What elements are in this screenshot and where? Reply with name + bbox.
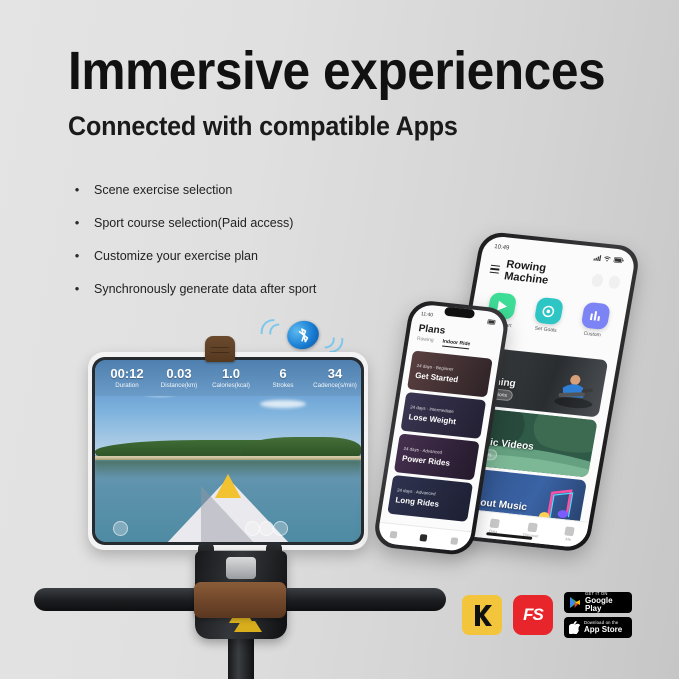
status-time: 11:40 (420, 311, 433, 318)
search-icon[interactable] (591, 273, 604, 287)
hamburger-menu-icon[interactable] (490, 265, 500, 274)
list-item[interactable]: 24 days · Intermediate Lose Weight (400, 392, 486, 439)
tab-home-icon[interactable] (389, 530, 397, 538)
metric-value: 00:12 (101, 367, 153, 381)
metric-strokes: 6 Strokes (257, 367, 309, 390)
app-store-badge[interactable]: Download on the App Store (564, 617, 632, 638)
sliders-icon (580, 302, 610, 330)
control-button-view[interactable] (245, 521, 260, 536)
tablet-control-bar (95, 520, 361, 542)
handlebar-grip (194, 582, 286, 618)
promo-stage: Immersive experiences Connected with com… (0, 0, 679, 679)
feature-list: • Scene exercise selection • Sport cours… (72, 182, 402, 314)
list-item: • Customize your exercise plan (72, 248, 402, 264)
discover-icon (527, 522, 538, 532)
metric-value: 0.03 (153, 367, 205, 381)
battery-icon (613, 257, 624, 264)
page-title: Immersive experiences (68, 44, 605, 98)
tab-plans-icon[interactable] (420, 534, 428, 542)
list-item-label: Sport course selection(Paid access) (94, 215, 293, 231)
tab-indoor-ride[interactable]: Indoor Ride (442, 339, 471, 350)
handlebar-left (34, 588, 214, 611)
google-play-icon (569, 596, 581, 609)
list-item[interactable]: 24 days · Beginner Get Started (407, 350, 493, 397)
metric-cadence: 34 Cadence(s/min) (309, 367, 361, 390)
target-icon (534, 297, 564, 325)
console-slot (226, 557, 256, 579)
wifi-icon (603, 256, 611, 263)
profile-icon (565, 526, 576, 536)
list-item: • Scene exercise selection (72, 182, 402, 198)
tablet-mount-clamp (205, 336, 235, 362)
metric-value: 34 (309, 367, 361, 381)
action-label: Set Goals (523, 324, 568, 335)
tab-me[interactable]: Me (563, 526, 575, 542)
handlebar-right (268, 588, 446, 611)
data-icon (489, 518, 500, 528)
tab-rowing[interactable]: Rowing (416, 336, 434, 346)
metric-label: Calories(kcal) (205, 381, 257, 390)
action-set-goals[interactable]: Set Goals (523, 296, 573, 335)
page-subtitle: Connected with compatible Apps (68, 111, 458, 141)
battery-icon (487, 319, 497, 325)
tab-label: Me (563, 536, 573, 542)
bullet-icon: • (72, 182, 82, 198)
store-badge-title: App Store (584, 626, 622, 634)
list-item-label: Synchronously generate data after sport (94, 281, 316, 297)
list-item-label: Customize your exercise plan (94, 248, 258, 264)
plan-title: Get Started (415, 371, 459, 384)
metric-label: Distance(km) (153, 381, 205, 390)
plan-meta: 24 days · Beginner (416, 363, 453, 372)
google-play-badge[interactable]: GET IT ON Google Play (564, 592, 632, 613)
status-time: 10:49 (494, 244, 510, 251)
tablet-bezel: 00:12 Duration 0.03 Distance(km) 1.0 Cal… (92, 357, 364, 545)
list-item: • Sport course selection(Paid access) (72, 215, 402, 231)
metric-label: Cadence(s/min) (309, 381, 361, 390)
treeline-right (241, 437, 361, 455)
list-item-label: Scene exercise selection (94, 182, 232, 198)
tab-data[interactable]: Data (488, 518, 500, 534)
fs-logo[interactable]: FS (513, 595, 553, 635)
action-label: Custom (570, 329, 615, 340)
list-item: • Synchronously generate data after spor… (72, 281, 402, 297)
bullet-icon: • (72, 248, 82, 264)
store-badges: GET IT ON Google Play Download on the Ap… (564, 592, 632, 638)
list-item[interactable]: 24 days · Advanced Power Rides (394, 433, 480, 480)
signal-icon (593, 255, 601, 262)
control-button-map[interactable] (259, 521, 274, 536)
bullet-icon: • (72, 215, 82, 231)
apple-icon (569, 621, 580, 634)
metric-calories: 1.0 Calories(kcal) (205, 367, 257, 390)
metric-value: 1.0 (205, 367, 257, 381)
metrics-bar: 00:12 Duration 0.03 Distance(km) 1.0 Cal… (95, 360, 361, 396)
metric-duration: 00:12 Duration (101, 367, 153, 390)
metric-label: Duration (101, 381, 153, 390)
plan-title: Lose Weight (408, 412, 457, 426)
tablet-device: 00:12 Duration 0.03 Distance(km) 1.0 Cal… (88, 352, 368, 550)
plan-title: Long Rides (395, 495, 440, 508)
status-icons (593, 255, 624, 264)
bullet-icon: • (72, 281, 82, 297)
action-custom[interactable]: Custom (570, 301, 620, 340)
tab-profile-icon[interactable] (450, 537, 458, 545)
store-badge-title: Google Play (585, 597, 627, 613)
kinomap-logo[interactable] (462, 595, 502, 635)
boat-bow (215, 474, 241, 498)
control-button-settings[interactable] (273, 521, 288, 536)
tablet-screen[interactable]: 00:12 Duration 0.03 Distance(km) 1.0 Cal… (95, 360, 361, 542)
metric-label: Strokes (257, 381, 309, 390)
app-badges: FS GET IT ON Google Play (462, 592, 632, 638)
cloud (260, 400, 306, 408)
metric-distance: 0.03 Distance(km) (153, 367, 205, 390)
metric-value: 6 (257, 367, 309, 381)
control-button-compass[interactable] (113, 521, 128, 536)
history-icon[interactable] (608, 275, 621, 289)
rower-photo (551, 367, 600, 411)
plan-title: Power Rides (401, 454, 450, 468)
list-item[interactable]: 24 days · Advanced Long Rides (387, 475, 473, 522)
